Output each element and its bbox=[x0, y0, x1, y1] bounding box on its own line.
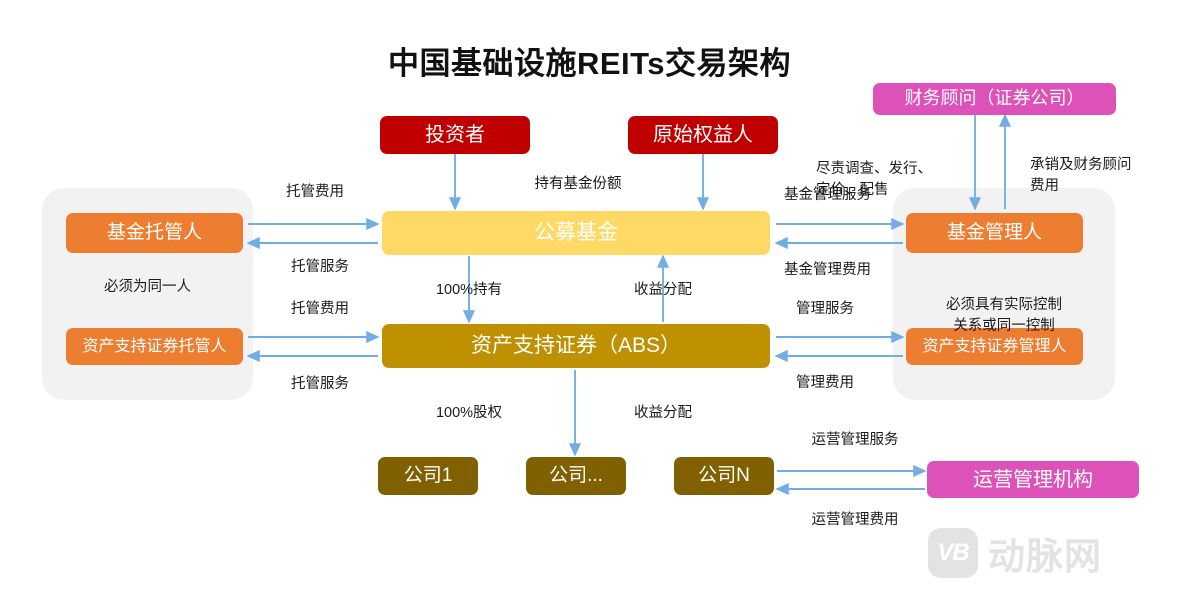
node-financial-advisor-label: 财务顾问（证券公司） bbox=[905, 89, 1085, 109]
node-fund-custodian-label: 基金托管人 bbox=[107, 223, 202, 244]
diagram-canvas: 中国基础设施REITs交易架构 bbox=[0, 0, 1179, 593]
edge-label-hold-100-text: 100%持有 bbox=[436, 282, 502, 298]
edge-label-revenue-dist-upper-text: 收益分配 bbox=[634, 282, 692, 298]
watermark: VB 动脉网 bbox=[928, 527, 1158, 579]
note-right-control: 必须具有实际控制 关系或同一控制 bbox=[893, 274, 1115, 337]
edge-label-equity-100: 100%股权 bbox=[389, 403, 549, 424]
node-financial-advisor[interactable]: 财务顾问（证券公司） bbox=[873, 83, 1116, 115]
node-company-1-label: 公司1 bbox=[404, 466, 453, 487]
edge-label-custody-fee-top: 托管费用 bbox=[255, 182, 375, 203]
edge-label-fund-mgmt-fee: 基金管理费用 bbox=[784, 260, 871, 281]
edge-label-custody-fee-bottom: 托管费用 bbox=[260, 299, 380, 320]
watermark-badge-text: VB bbox=[937, 539, 968, 567]
node-investor-label: 投资者 bbox=[425, 124, 485, 146]
edge-label-fund-mgmt-service: 基金管理服务 bbox=[784, 185, 871, 206]
edge-label-operation-fee: 运营管理费用 bbox=[775, 510, 935, 531]
edge-label-mgmt-fee-text: 管理费用 bbox=[796, 375, 854, 391]
edge-label-mgmt-service: 管理服务 bbox=[796, 299, 854, 320]
note-right-control-text: 必须具有实际控制 关系或同一控制 bbox=[946, 297, 1062, 334]
edge-label-custody-service-bottom-text: 托管服务 bbox=[291, 376, 349, 392]
note-left-same-person-text: 必须为同一人 bbox=[104, 279, 191, 295]
node-company-dots-label: 公司... bbox=[549, 466, 603, 487]
edge-label-mgmt-fee: 管理费用 bbox=[796, 373, 854, 394]
edge-label-underwriting-fee-text: 承销及财务顾问 费用 bbox=[1030, 157, 1132, 194]
edge-label-underwriting-fee: 承销及财务顾问 费用 bbox=[1030, 134, 1132, 197]
node-operator-label: 运营管理机构 bbox=[973, 469, 1093, 491]
edge-label-custody-service-top: 托管服务 bbox=[260, 257, 380, 278]
node-originator-label: 原始权益人 bbox=[653, 124, 753, 146]
edge-label-revenue-dist-lower: 收益分配 bbox=[603, 403, 723, 424]
node-company-dots[interactable]: 公司... bbox=[526, 457, 626, 495]
watermark-brand-text: 动脉网 bbox=[988, 526, 1102, 580]
edge-label-equity-100-text: 100%股权 bbox=[436, 405, 502, 421]
edge-label-custody-service-top-text: 托管服务 bbox=[291, 259, 349, 275]
edge-label-hold-100: 100%持有 bbox=[389, 280, 549, 301]
edge-label-hold-fund-shares: 持有基金份额 bbox=[478, 174, 678, 195]
node-fund-custodian[interactable]: 基金托管人 bbox=[66, 213, 243, 253]
node-abs-custodian[interactable]: 资产支持证券托管人 bbox=[66, 328, 243, 365]
edge-label-operation-service: 运营管理服务 bbox=[775, 430, 935, 451]
edge-label-custody-service-bottom: 托管服务 bbox=[260, 374, 380, 395]
node-company-n[interactable]: 公司N bbox=[674, 457, 774, 495]
node-company-1[interactable]: 公司1 bbox=[378, 457, 478, 495]
node-operator[interactable]: 运营管理机构 bbox=[927, 461, 1139, 498]
node-investor[interactable]: 投资者 bbox=[380, 116, 530, 154]
edge-label-mgmt-service-text: 管理服务 bbox=[796, 301, 854, 317]
node-abs-label: 资产支持证券（ABS） bbox=[471, 334, 681, 357]
node-abs-custodian-label: 资产支持证券托管人 bbox=[82, 338, 226, 356]
node-public-fund[interactable]: 公募基金 bbox=[382, 211, 770, 255]
watermark-logo-icon: VB bbox=[928, 528, 978, 578]
edge-label-operation-service-text: 运营管理服务 bbox=[812, 432, 899, 448]
edge-label-revenue-dist-lower-text: 收益分配 bbox=[634, 405, 692, 421]
node-abs[interactable]: 资产支持证券（ABS） bbox=[382, 324, 770, 368]
page-title: 中国基础设施REITs交易架构 bbox=[0, 38, 1179, 83]
node-fund-manager-label: 基金管理人 bbox=[947, 223, 1042, 244]
note-left-same-person: 必须为同一人 bbox=[42, 277, 253, 298]
edge-label-hold-fund-shares-text: 持有基金份额 bbox=[535, 176, 622, 192]
edge-label-revenue-dist-upper: 收益分配 bbox=[603, 280, 723, 301]
edge-label-custody-fee-bottom-text: 托管费用 bbox=[291, 301, 349, 317]
node-abs-manager-label: 资产支持证券管理人 bbox=[922, 338, 1066, 356]
edge-label-operation-fee-text: 运营管理费用 bbox=[812, 512, 899, 528]
node-fund-manager[interactable]: 基金管理人 bbox=[906, 213, 1083, 253]
node-public-fund-label: 公募基金 bbox=[534, 221, 618, 244]
edge-label-fund-mgmt-fee-text: 基金管理费用 bbox=[784, 262, 871, 278]
edge-label-custody-fee-top-text: 托管费用 bbox=[286, 184, 344, 200]
node-company-n-label: 公司N bbox=[698, 466, 750, 487]
edge-label-fund-mgmt-service-text: 基金管理服务 bbox=[784, 187, 871, 203]
node-originator[interactable]: 原始权益人 bbox=[628, 116, 778, 154]
